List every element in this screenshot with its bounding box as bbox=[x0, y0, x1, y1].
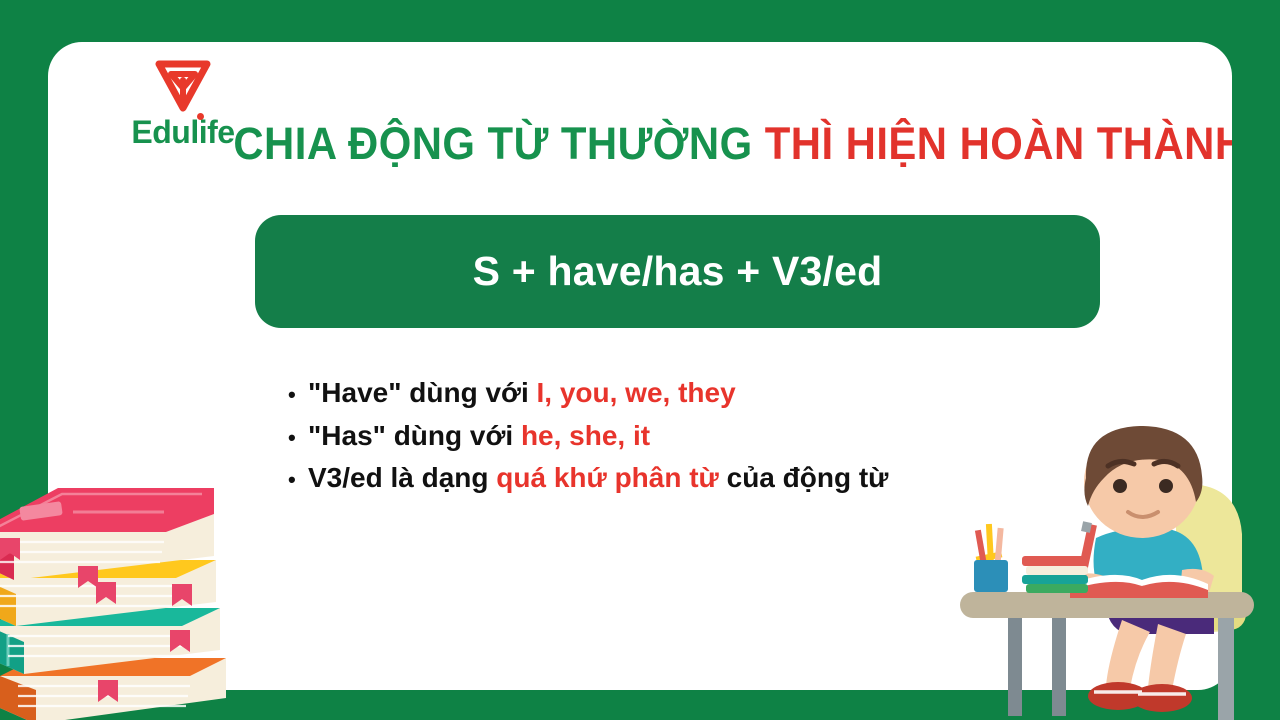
page-title: CHIA ĐỘNG TỪ THƯỜNG THÌ HIỆN HOÀN THÀNH bbox=[233, 120, 1172, 167]
list-item: • "Have" dùng với I, you, we, they bbox=[288, 372, 1108, 415]
list-item-text: "Has" dùng với he, she, it bbox=[308, 415, 650, 458]
boy-studying-at-desk-illustration bbox=[946, 420, 1280, 720]
pencil-cup bbox=[974, 524, 1008, 592]
title-part-green: CHIA ĐỘNG TỪ THƯỜNG bbox=[233, 118, 752, 169]
edulife-triangle-logo-icon bbox=[155, 60, 211, 112]
formula-banner: S + have/has + V3/ed bbox=[255, 215, 1100, 328]
list-item-text: "Have" dùng với I, you, we, they bbox=[308, 372, 736, 415]
bullet-marker-icon: • bbox=[288, 384, 308, 406]
bullet-marker-icon: • bbox=[288, 469, 308, 491]
stack-of-books-illustration bbox=[0, 462, 278, 720]
formula-text: S + have/has + V3/ed bbox=[473, 248, 883, 295]
brand-name: Edulife bbox=[131, 116, 234, 148]
bullet-marker-icon: • bbox=[288, 427, 308, 449]
desk-book-stack bbox=[1022, 556, 1088, 593]
list-item-text: V3/ed là dạng quá khứ phân từ của động t… bbox=[308, 457, 888, 500]
title-part-red: THÌ HIỆN HOÀN THÀNH bbox=[765, 118, 1232, 169]
